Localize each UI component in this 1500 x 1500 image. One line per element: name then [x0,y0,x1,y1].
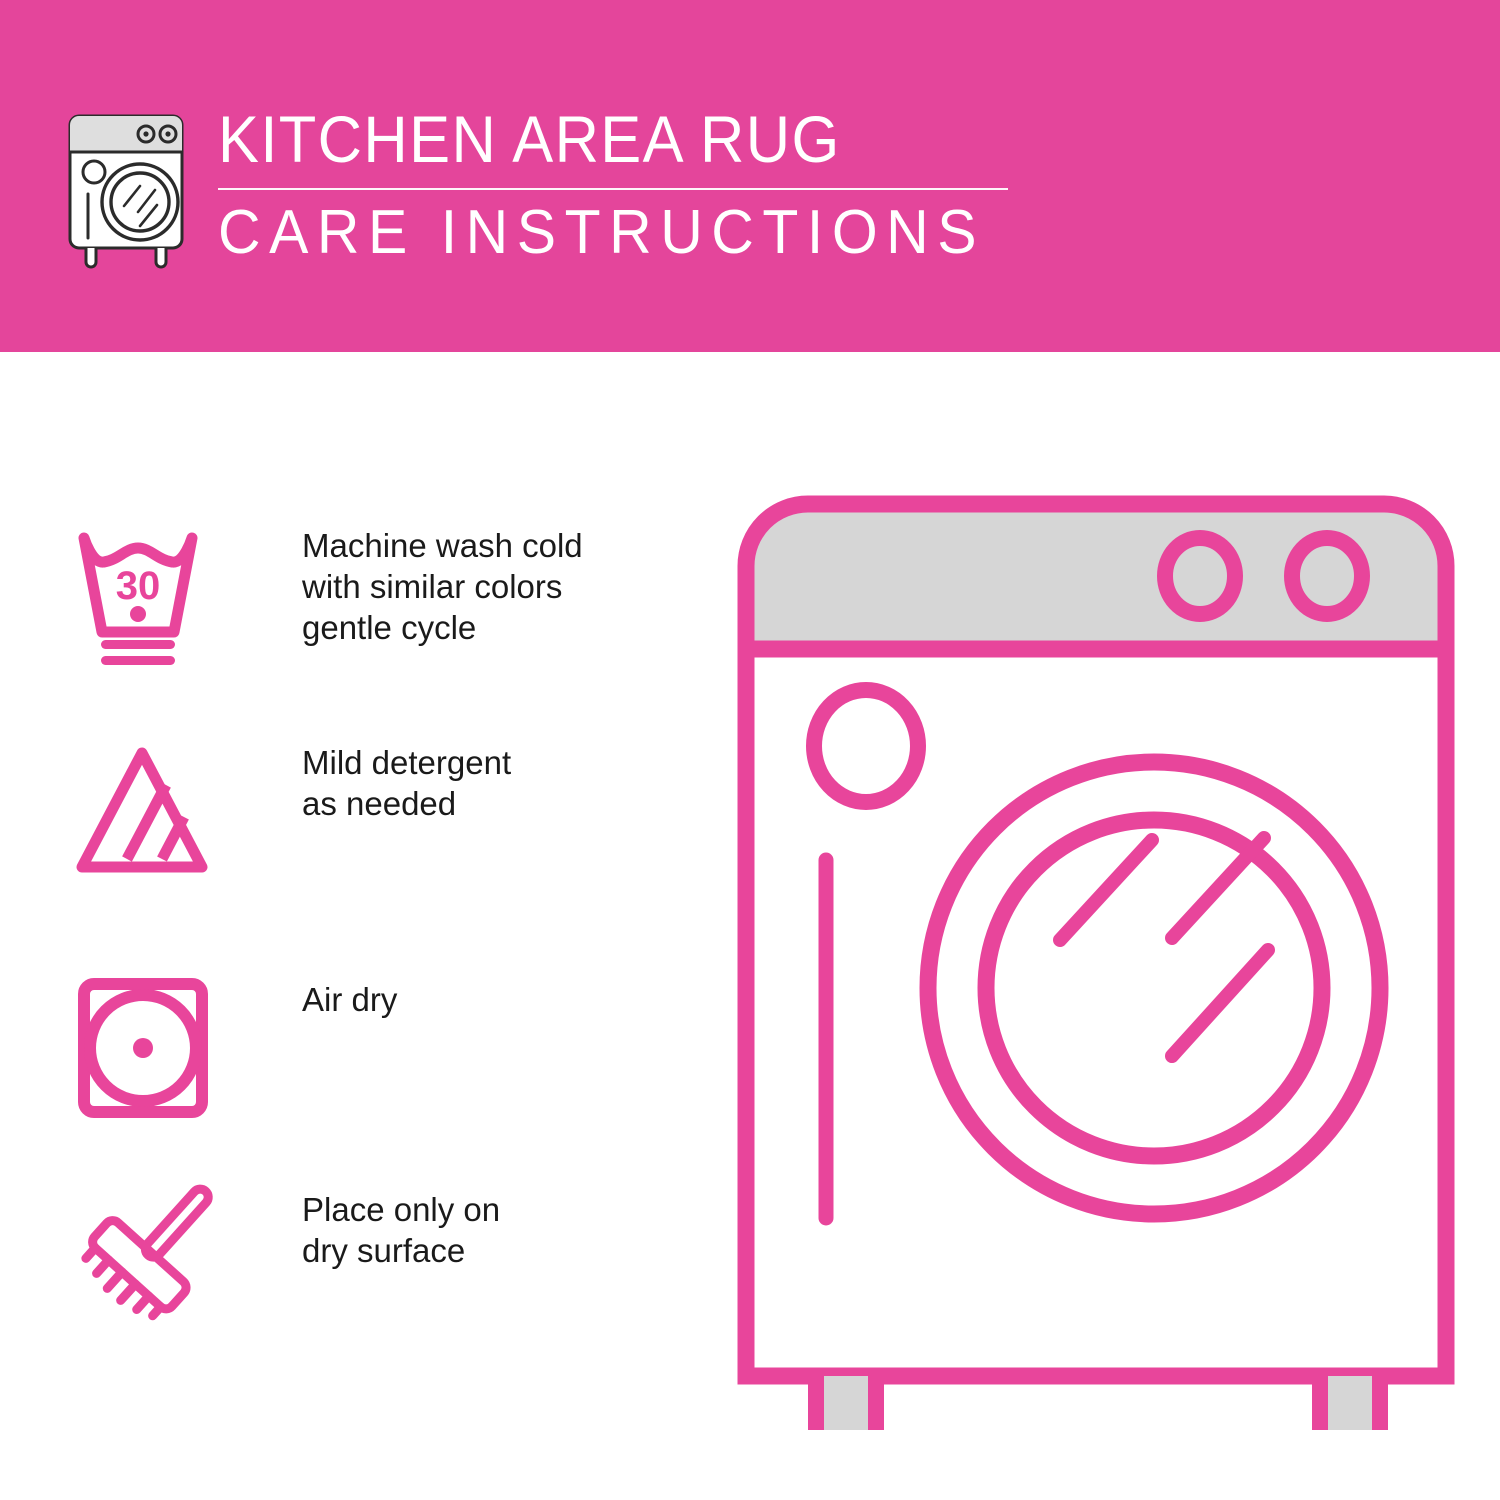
detergent-port[interactable] [814,690,918,802]
header-banner: KITCHEN AREA RUG CARE INSTRUCTIONS [0,0,1500,352]
care-instruction-list: 30 Machine wash cold with similar colors… [0,352,660,1500]
care-instruction-text: Mild detergent as needed [302,737,511,825]
header-divider [218,188,1008,190]
wash-tub-30-icon: 30 [70,520,220,670]
drum-outer-ring [928,762,1380,1214]
broom-icon [70,1184,220,1334]
care-instruction-item: 30 Machine wash cold with similar colors… [70,520,650,670]
care-instruction-item: Air dry [70,974,650,1124]
page-title: KITCHEN AREA RUG [218,100,969,172]
care-instruction-item: Place only on dry surface [70,1184,650,1334]
control-panel [746,504,1446,649]
care-instruction-text: Air dry [302,974,397,1021]
washing-machine-illustration [720,480,1480,1430]
page-subtitle: CARE INSTRUCTIONS [218,202,985,264]
leg-left [816,1376,876,1430]
care-instruction-text: Machine wash cold with similar colors ge… [302,520,583,649]
care-instruction-item: Mild detergent as needed [70,737,650,887]
care-instruction-text: Place only on dry surface [302,1184,500,1272]
header-text-block: KITCHEN AREA RUG CARE INSTRUCTIONS [218,100,1025,264]
drum-inner-ring [986,820,1322,1156]
leg-right [1320,1376,1380,1430]
washing-machine-icon [62,110,190,270]
drum-stripes [1060,838,1268,1056]
tumble-dry-icon [70,974,220,1124]
header-content: KITCHEN AREA RUG CARE INSTRUCTIONS [62,100,1025,270]
triangle-bleach-icon [70,737,220,887]
wash-temperature-label: 30 [116,564,161,608]
